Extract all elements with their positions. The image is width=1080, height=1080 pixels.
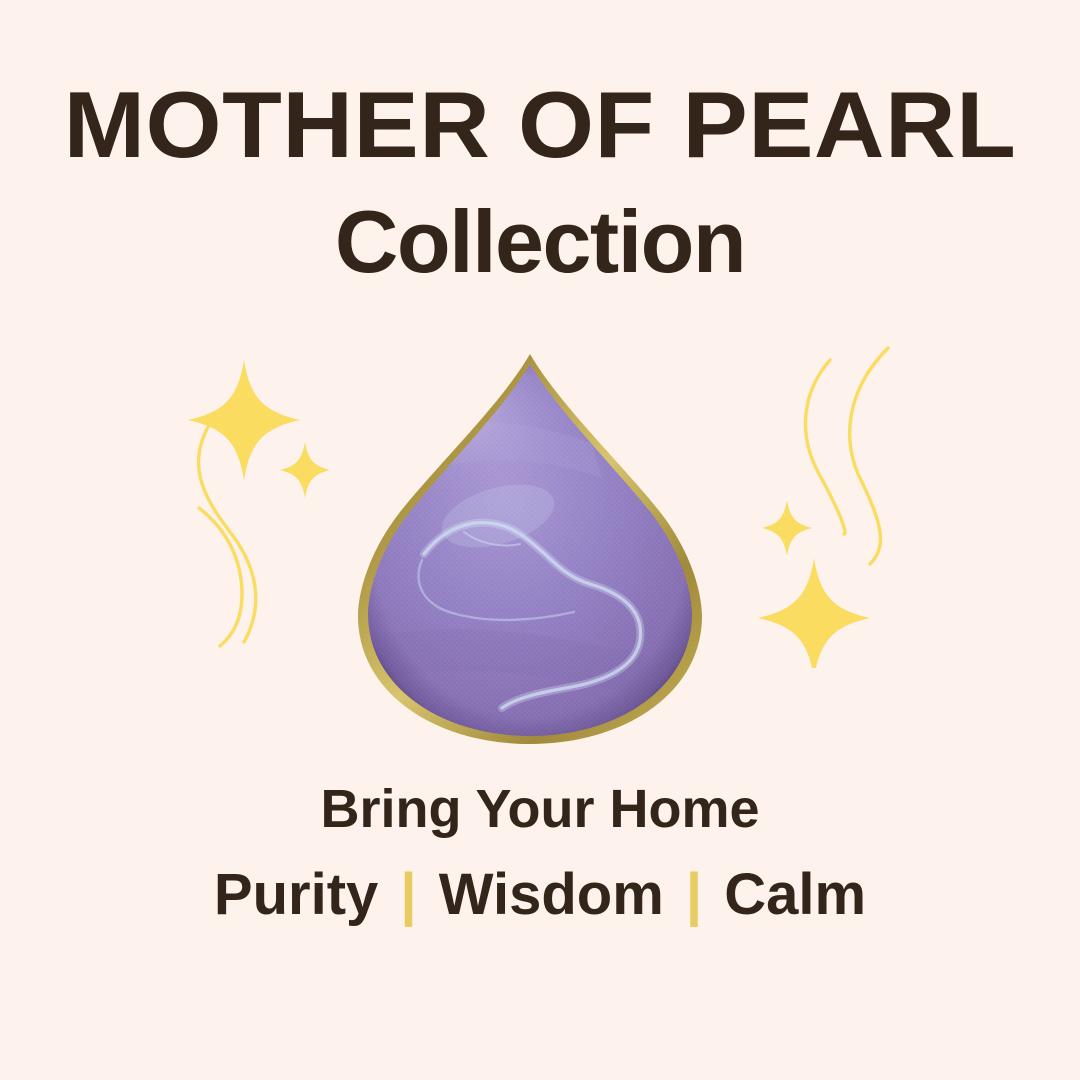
wave-line-icon bbox=[850, 348, 888, 564]
artwork-area bbox=[0, 330, 1080, 760]
wave-line-icon bbox=[199, 508, 242, 646]
sparkle-cluster-right bbox=[740, 338, 940, 668]
wave-line-icon bbox=[806, 360, 845, 534]
tagline-primary: Bring Your Home bbox=[0, 782, 1080, 836]
page-title: MOTHER OF PEARL bbox=[0, 78, 1080, 172]
gem-body bbox=[352, 348, 708, 748]
poster-canvas: MOTHER OF PEARL Collection bbox=[0, 0, 1080, 1080]
benefit-calm: Calm bbox=[724, 862, 866, 927]
benefits-row: Purity | Wisdom | Calm bbox=[0, 866, 1080, 924]
tagline-block: Bring Your Home Purity | Wisdom | Calm bbox=[0, 782, 1080, 924]
benefit-wisdom: Wisdom bbox=[439, 862, 664, 927]
gemstone-image bbox=[352, 348, 708, 748]
sparkle-cluster-left bbox=[172, 350, 362, 650]
benefit-separator: | bbox=[680, 862, 708, 927]
star-icon-small bbox=[280, 442, 330, 498]
benefit-separator: | bbox=[394, 862, 422, 927]
star-icon bbox=[188, 360, 300, 480]
star-icon-small bbox=[762, 500, 812, 556]
benefit-purity: Purity bbox=[214, 862, 378, 927]
headline-block: MOTHER OF PEARL Collection bbox=[0, 78, 1080, 286]
page-subtitle: Collection bbox=[0, 198, 1080, 286]
star-icon bbox=[758, 558, 870, 668]
